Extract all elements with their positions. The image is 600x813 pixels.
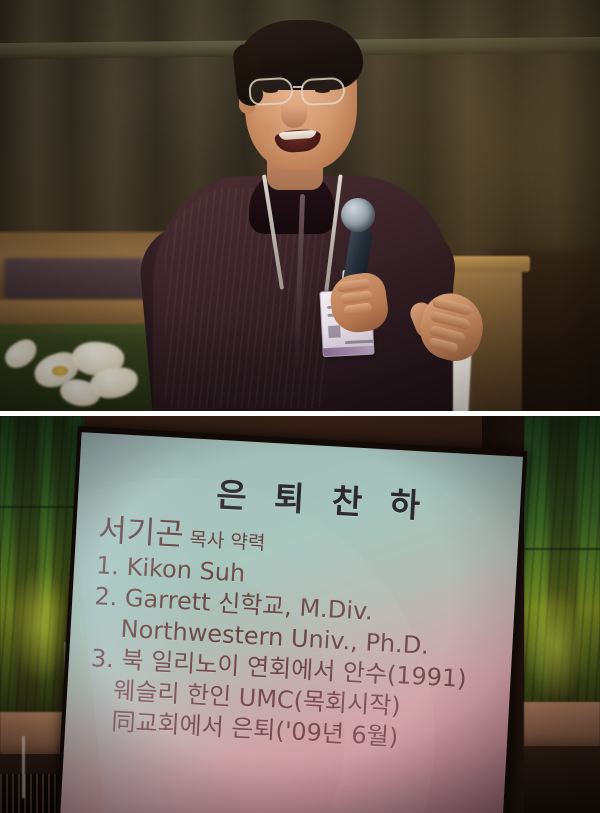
page-root: 은 퇴 찬 하 서기곤목사 약력 1. Kikon Suh 2. Garrett… <box>0 0 600 813</box>
dark-base-right <box>524 746 600 813</box>
vertical-pole <box>22 736 25 798</box>
badge-logo <box>328 325 341 338</box>
slide-title: 은 퇴 찬 하 <box>215 468 429 528</box>
forest-mural-right <box>524 416 600 716</box>
projected-slide: 은 퇴 찬 하 서기곤목사 약력 1. Kikon Suh 2. Garrett… <box>60 432 523 813</box>
finger <box>343 302 372 316</box>
slide-person-name: 서기곤 <box>97 512 184 553</box>
badge-text-line <box>345 340 375 345</box>
mural-light-patch <box>10 566 70 686</box>
speaker-teeth <box>278 130 316 141</box>
eye <box>315 88 330 93</box>
badge-footer-strip <box>323 346 373 357</box>
eye <box>263 88 278 93</box>
slide-person-role: 목사 약력 <box>189 528 266 554</box>
eyeglass-bridge <box>293 86 303 88</box>
microphone-icon <box>341 198 375 232</box>
mural-light-patch <box>526 586 586 706</box>
lower-wall-right <box>524 702 600 748</box>
bottom-photograph: 은 퇴 찬 하 서기곤목사 약력 1. Kikon Suh 2. Garrett… <box>0 416 600 813</box>
eyeglasses-icon <box>243 76 365 108</box>
slide-body: 서기곤목사 약력 1. Kikon Suh 2. Garrett 신학교, M.… <box>87 515 519 762</box>
lily-stamen <box>52 366 68 376</box>
mural-panel-seam <box>524 548 600 550</box>
mural-panel-seam <box>0 506 84 508</box>
pew-seat <box>4 258 144 300</box>
top-photograph <box>0 0 600 411</box>
speaker-figure <box>145 18 475 411</box>
projection-screen: 은 퇴 찬 하 서기곤목사 약력 1. Kikon Suh 2. Garrett… <box>56 426 528 813</box>
